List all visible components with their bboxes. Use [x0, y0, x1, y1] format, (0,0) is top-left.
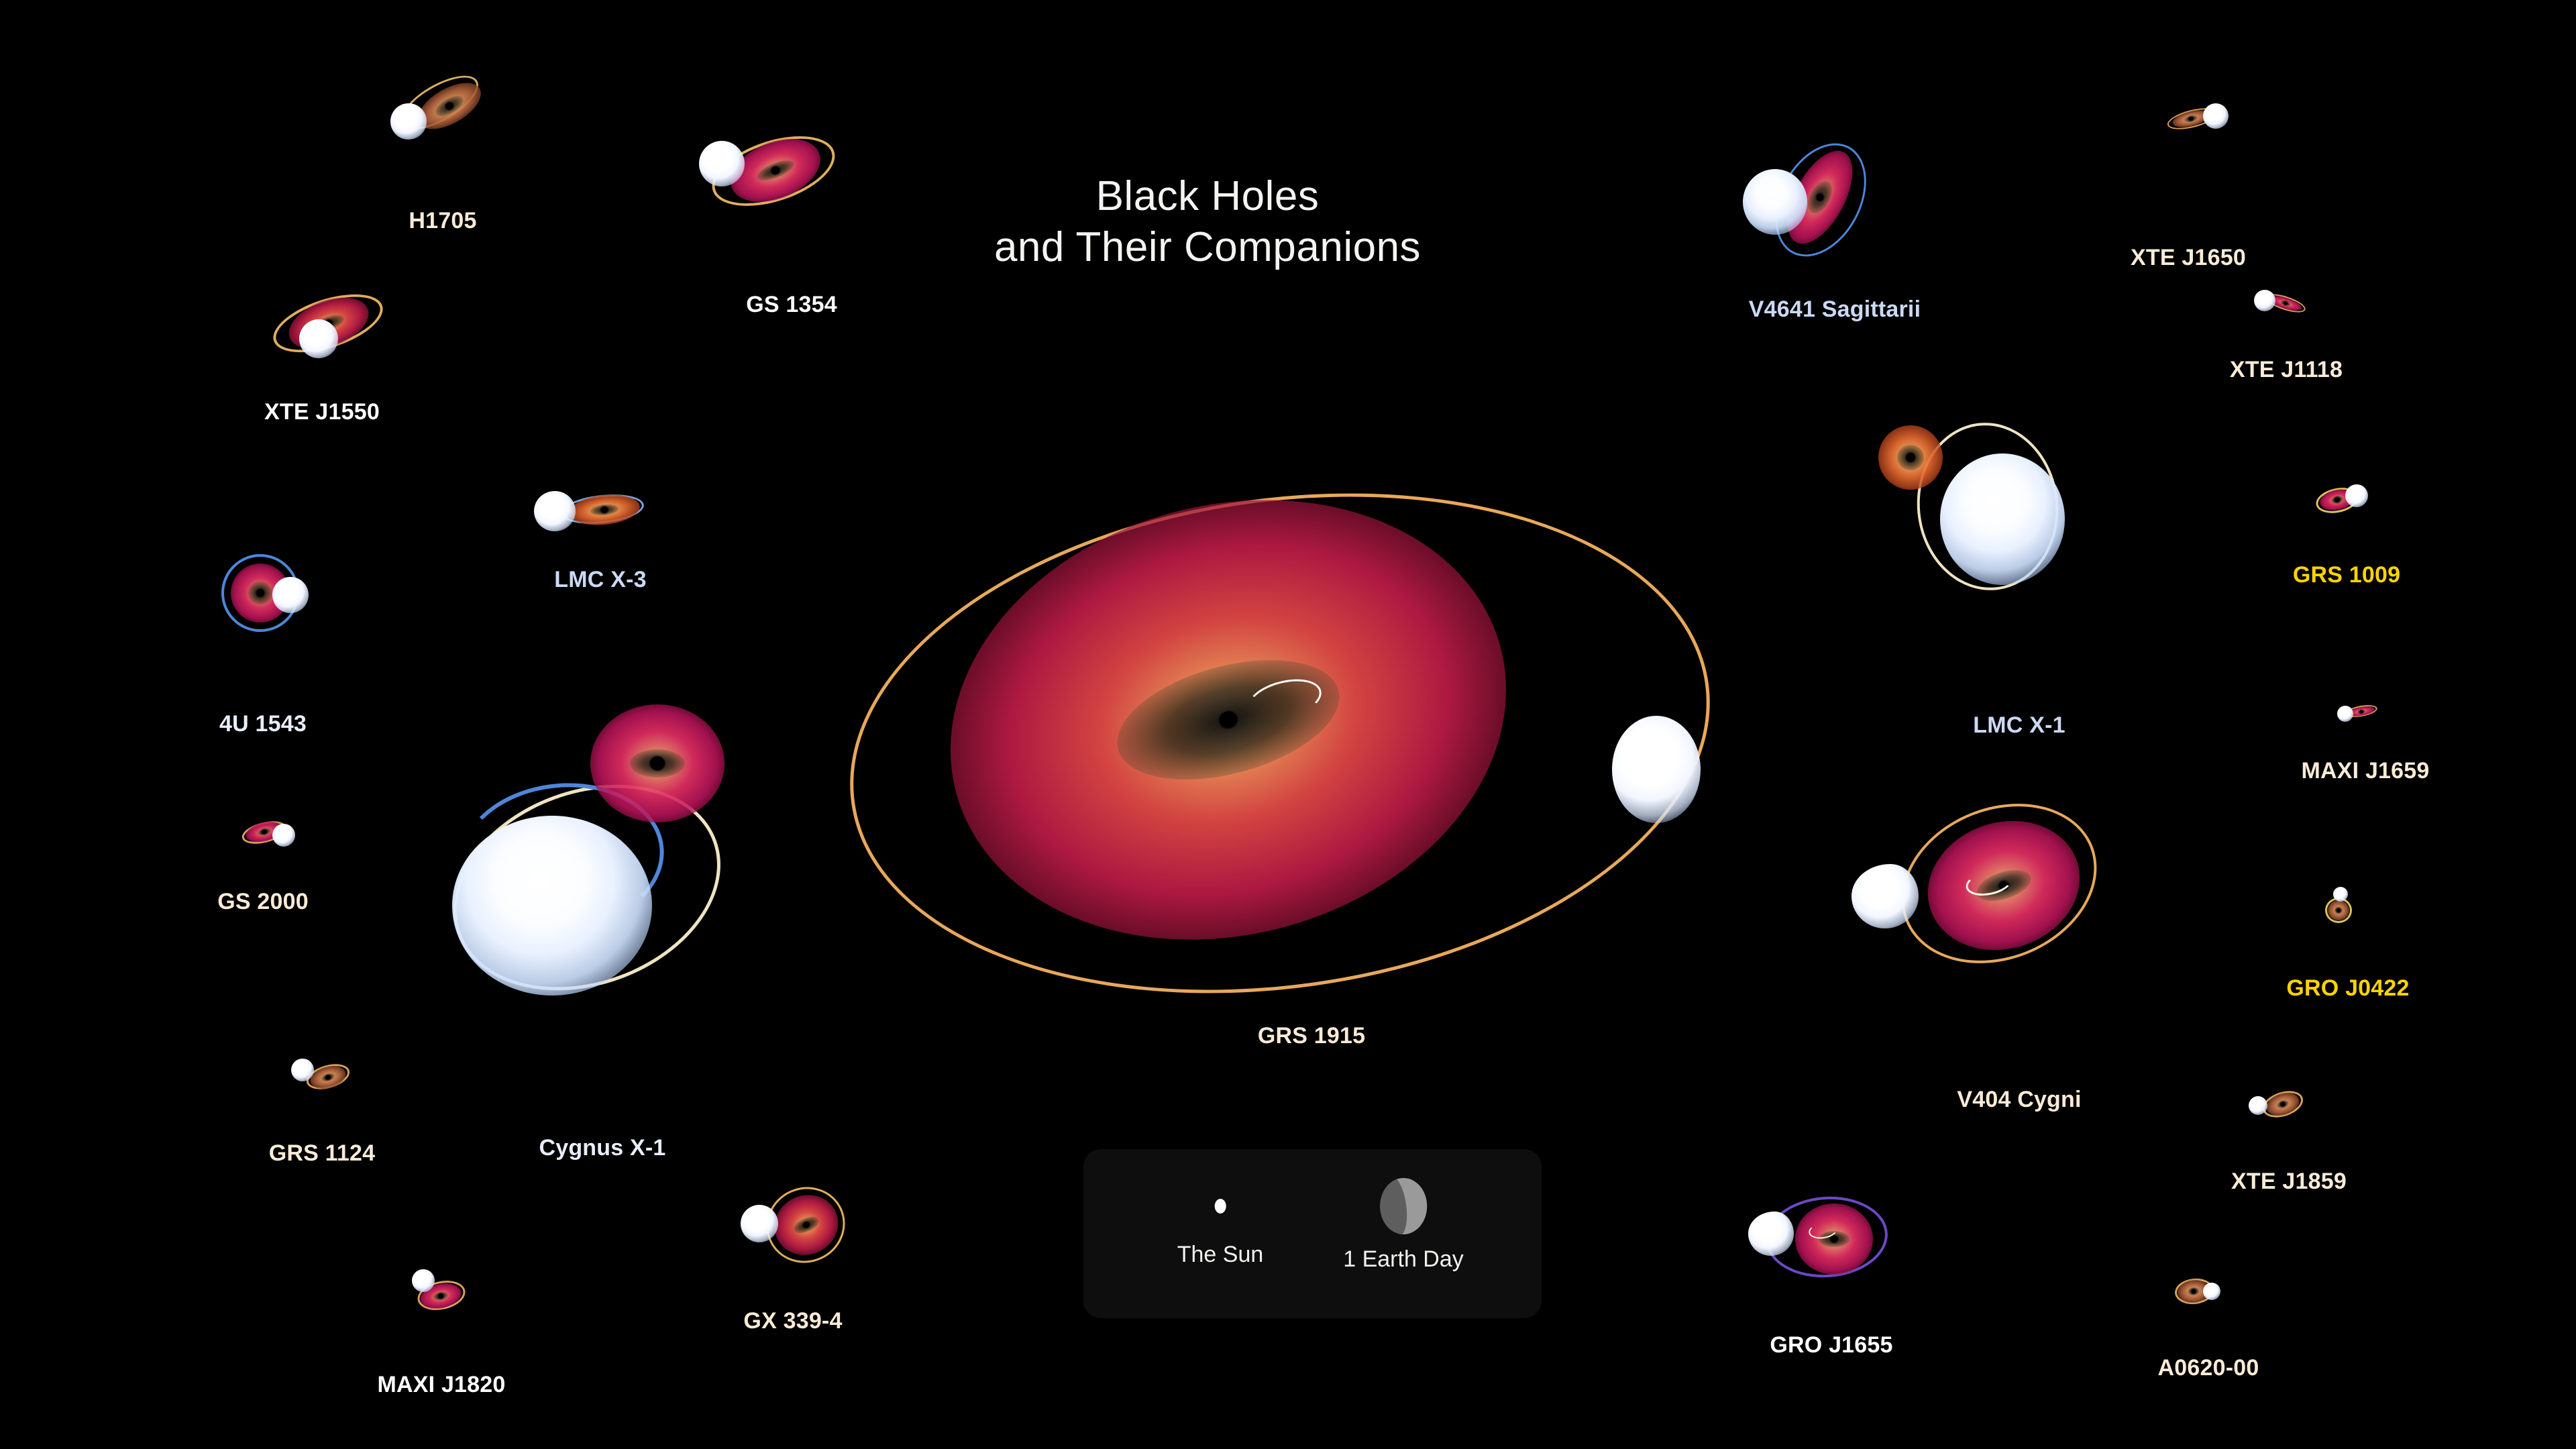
a0620-00-companion-star: [2203, 1283, 2220, 1300]
lmc-x-1-companion-star: [1940, 453, 2065, 585]
v4641-companion-star: [1743, 169, 1807, 235]
gx-339-4-label: GX 339-4: [743, 1308, 842, 1334]
system-gro-j0422[interactable]: GRO J0422: [2308, 885, 2402, 959]
system-v404-cygni[interactable]: V404 Cygni: [1838, 798, 2160, 1013]
system-gx-339-4[interactable]: GX 339-4: [724, 1181, 912, 1308]
system-grs-1915[interactable]: GRS 1915: [842, 480, 1734, 1036]
xte-j1118-companion-star: [2254, 290, 2275, 311]
lmc-x-1-label: LMC X-1: [1973, 712, 2065, 739]
gs-1354-companion-star: [699, 141, 745, 186]
a0620-00-label: A0620-00: [2158, 1355, 2259, 1381]
maxi-j1820-companion-star: [412, 1269, 435, 1292]
xte-j1650-label: XTE J1650: [2131, 245, 2246, 271]
system-h1705[interactable]: H1705: [376, 67, 523, 174]
lmc-x-1-accretion-disk: [1878, 425, 1943, 490]
system-a0620-00[interactable]: A0620-00: [2160, 1268, 2281, 1348]
h1705-companion-star: [390, 103, 427, 140]
system-grs-1009[interactable]: GRS 1009: [2301, 476, 2408, 550]
xte-j1118-label: XTE J1118: [2230, 357, 2343, 383]
gro-j0422-label: GRO J0422: [2286, 975, 2409, 1002]
scale-legend-panel: The Sun 1 Earth Day: [1083, 1149, 1542, 1318]
grs-1124-label: GRS 1124: [269, 1140, 376, 1167]
4u-1543-art: [215, 550, 369, 657]
lmc-x-3-companion-star: [534, 491, 576, 531]
system-v4641-sagittarii[interactable]: V4641 Sagittarii: [1731, 134, 1919, 268]
grs-1915-label: GRS 1915: [1258, 1023, 1365, 1049]
cygnus-x-1-art: [429, 704, 771, 1080]
gro-j1655-label: GRO J1655: [1770, 1332, 1892, 1358]
system-xte-j1650[interactable]: XTE J1650: [2147, 94, 2254, 168]
gro-j1655-companion-star: [1748, 1212, 1794, 1256]
gs-1354-art: [691, 127, 879, 262]
gro-j0422-accretion-disk: [2328, 900, 2349, 920]
v4641-label: V4641 Sagittarii: [1749, 297, 1921, 323]
gro-j0422-black-hole: [2337, 909, 2341, 912]
legend-sun-label: The Sun: [1177, 1242, 1264, 1268]
system-grs-1124[interactable]: GRS 1124: [282, 1053, 402, 1134]
cygnus-x-1-label: Cygnus X-1: [539, 1135, 665, 1161]
title-line-2: and Their Companions: [899, 222, 1516, 273]
maxi-j1659-art: [2328, 691, 2422, 751]
gro-j1655-black-hole: [1831, 1236, 1837, 1242]
xte-j1650-art: [2147, 94, 2254, 168]
grs-1915-art: [842, 480, 1734, 1036]
half-lit-sphere-icon: [1380, 1178, 1427, 1234]
v4641-art: [1731, 134, 1919, 268]
lmc-x-3-label: LMC X-3: [554, 567, 646, 593]
4u-1543-label: 4U 1543: [219, 711, 307, 737]
maxi-j1659-label: MAXI J1659: [2302, 758, 2430, 784]
lmc-x-1-black-hole: [1907, 453, 1915, 462]
4u-1543-black-hole: [257, 590, 264, 597]
maxi-j1820-label: MAXI J1820: [378, 1372, 506, 1398]
lmc-x-1-art: [1858, 416, 2127, 631]
xte-j1550-art: [262, 288, 423, 402]
system-lmc-x-1[interactable]: LMC X-1: [1858, 416, 2127, 631]
xte-j1650-companion-star: [2203, 103, 2229, 129]
gs-2000-label: GS 2000: [217, 889, 309, 915]
visualization-canvas: Black Holes and Their Companions H1705 G…: [0, 0, 2576, 1449]
gro-j0422-companion-star: [2333, 887, 2348, 902]
v404-cygni-art: [1838, 798, 2160, 1013]
xte-j1550-label: XTE J1550: [264, 399, 380, 425]
cygnus-x-1-black-hole: [651, 757, 665, 770]
gs-1354-label: GS 1354: [746, 292, 837, 318]
v404-cygni-companion-star: [1851, 864, 1919, 928]
system-maxi-j1820[interactable]: MAXI J1820: [402, 1268, 537, 1355]
maxi-j1820-art: [402, 1268, 537, 1355]
a0620-00-art: [2160, 1268, 2281, 1348]
legend-item-earth-day: 1 Earth Day: [1343, 1178, 1464, 1273]
gx-339-4-companion-star: [741, 1205, 778, 1242]
gx-339-4-art: [724, 1181, 912, 1308]
4u-1543-companion-star: [272, 577, 309, 613]
gs-2000-art: [228, 812, 349, 885]
grs-1009-label: GRS 1009: [2293, 562, 2400, 588]
xte-j1859-art: [2241, 1080, 2361, 1161]
cygnus-x-1-accretion-disk: [590, 704, 724, 822]
gs-2000-companion-star: [272, 824, 295, 847]
sun-icon: [1215, 1199, 1226, 1214]
xte-j1118-art: [2241, 282, 2348, 349]
grs-1009-art: [2301, 476, 2408, 550]
system-lmc-x-3[interactable]: LMC X-3: [530, 483, 704, 584]
v404-cygni-label: V404 Cygni: [1957, 1087, 2081, 1113]
maxi-j1659-companion-star: [2337, 706, 2353, 722]
grs-1009-companion-star: [2345, 484, 2368, 507]
page-title: Black Holes and Their Companions: [899, 171, 1516, 272]
gro-j1655-accretion-disk: [1795, 1203, 1873, 1275]
system-4u-1543[interactable]: 4U 1543: [215, 550, 369, 657]
system-gro-j1655[interactable]: GRO J1655: [1737, 1187, 1952, 1322]
h1705-art: [376, 67, 523, 174]
system-maxi-j1659[interactable]: MAXI J1659: [2328, 691, 2422, 751]
grs-1915-companion-star: [1612, 716, 1701, 823]
system-cygnus-x-1[interactable]: Cygnus X-1: [429, 704, 771, 1080]
legend-item-sun: The Sun: [1177, 1199, 1264, 1268]
system-gs-1354[interactable]: GS 1354: [691, 127, 879, 262]
gro-j1655-art: [1737, 1187, 1952, 1322]
h1705-label: H1705: [409, 208, 476, 234]
system-xte-j1550[interactable]: XTE J1550: [262, 288, 423, 402]
xte-j1859-label: XTE J1859: [2231, 1169, 2347, 1195]
title-line-1: Black Holes: [899, 171, 1516, 222]
xte-j1550-companion-star: [299, 319, 338, 358]
system-xte-j1118[interactable]: XTE J1118: [2241, 282, 2348, 349]
system-gs-2000[interactable]: GS 2000: [228, 812, 349, 885]
xte-j1859-companion-star: [2249, 1096, 2267, 1115]
grs-1124-companion-star: [291, 1059, 314, 1081]
legend-day-label: 1 Earth Day: [1343, 1246, 1464, 1273]
gro-j0422-art: [2308, 885, 2402, 959]
cygnus-x-1-companion-star: [452, 816, 652, 996]
system-xte-j1859[interactable]: XTE J1859: [2241, 1080, 2361, 1161]
grs-1124-art: [282, 1053, 402, 1134]
